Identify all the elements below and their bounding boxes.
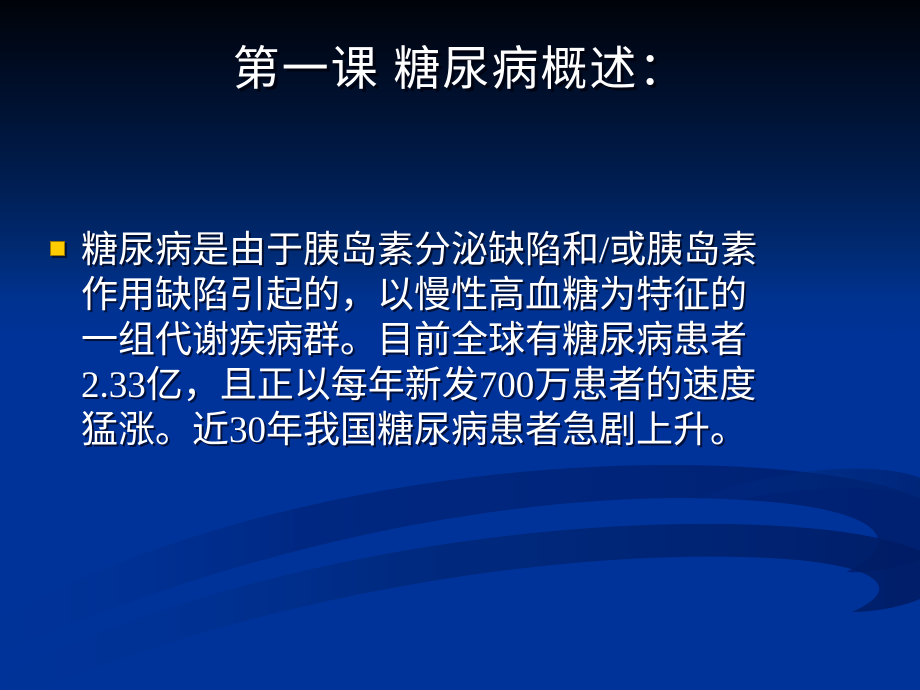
square-bullet-icon xyxy=(50,241,65,256)
body-line-5: 猛涨。近30年我国糖尿病患者急剧上升。 xyxy=(81,408,870,453)
slide-body: 糖尿病是由于胰岛素分泌缺陷和/或胰岛素 作用缺陷引起的，以慢性高血糖为特征的 一… xyxy=(50,228,870,453)
presentation-slide: 第一课 糖尿病概述： 糖尿病是由于胰岛素分泌缺陷和/或胰岛素 作用缺陷引起的，以… xyxy=(0,0,920,690)
slide-body-text: 糖尿病是由于胰岛素分泌缺陷和/或胰岛素 作用缺陷引起的，以慢性高血糖为特征的 一… xyxy=(81,228,870,453)
body-line-3: 一组代谢疾病群。目前全球有糖尿病患者 xyxy=(81,318,870,363)
body-line-4: 2.33亿，且正以每年新发700万患者的速度 xyxy=(81,363,870,408)
body-line-2: 作用缺陷引起的，以慢性高血糖为特征的 xyxy=(81,273,870,318)
slide-title-text: 第一课 糖尿病概述： xyxy=(233,44,688,97)
body-line-1: 糖尿病是由于胰岛素分泌缺陷和/或胰岛素 xyxy=(81,228,870,273)
slide-title: 第一课 糖尿病概述： xyxy=(0,44,920,97)
